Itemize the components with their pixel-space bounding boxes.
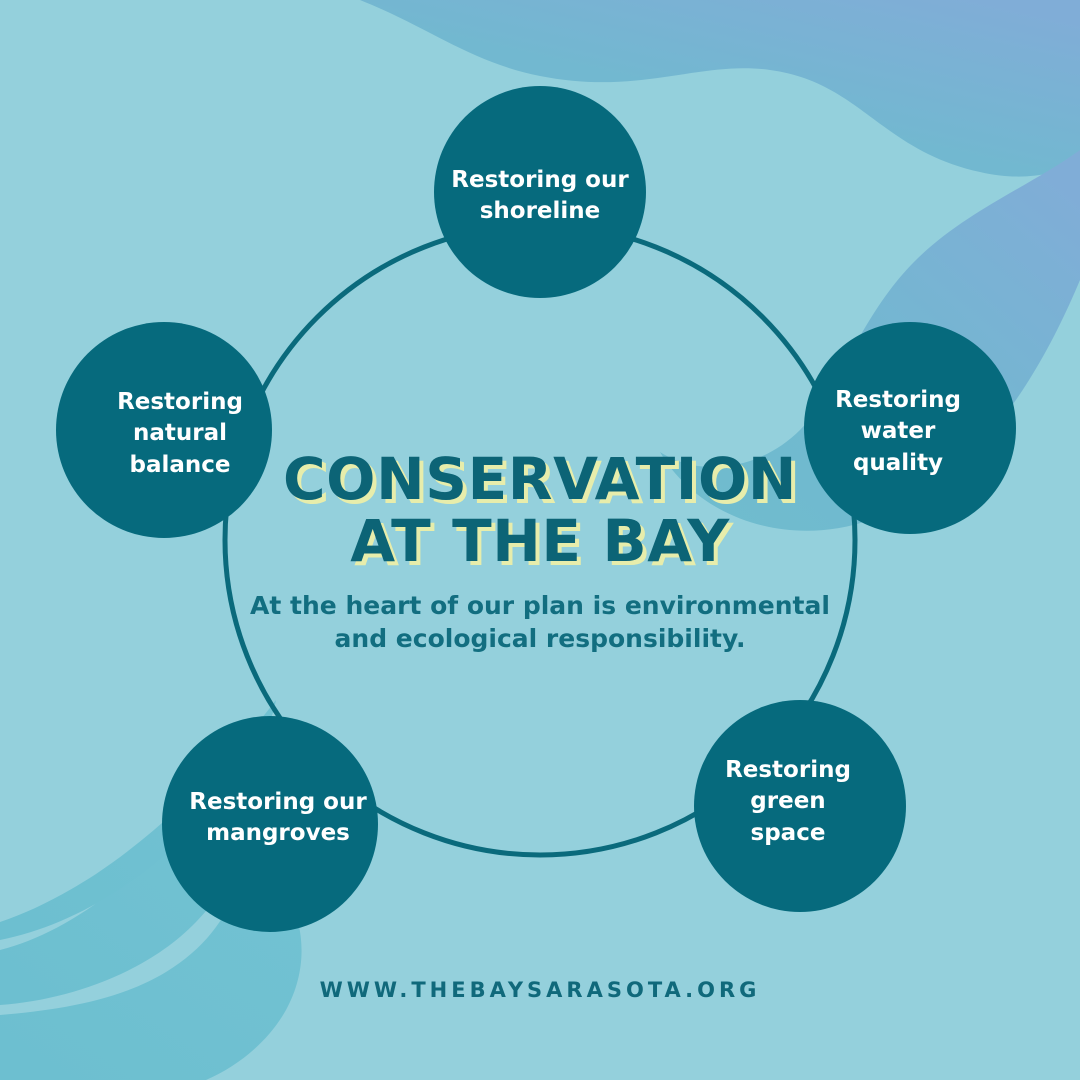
node-restoring-water-quality[interactable]: Restoring water quality (804, 322, 1016, 534)
node-label-mangroves: Restoring our mangroves (183, 787, 372, 849)
node-restoring-shoreline[interactable]: Restoring our shoreline (434, 86, 646, 298)
node-restoring-mangroves[interactable]: Restoring our mangroves (162, 716, 378, 932)
node-label-green-space: Restoring green space (719, 755, 857, 848)
node-label-water-quality: Restoring water quality (829, 385, 967, 478)
infographic-poster: Restoring our shoreline Restoring water … (0, 0, 1080, 1080)
footer-website-url[interactable]: WWW.THEBAYSARASOTA.ORG (0, 978, 1080, 1002)
node-restoring-green-space[interactable]: Restoring green space (694, 700, 906, 912)
node-label-shoreline: Restoring our shoreline (445, 165, 634, 227)
node-label-natural-balance: Restoring natural balance (111, 387, 249, 480)
node-restoring-natural-balance[interactable]: Restoring natural balance (56, 322, 272, 538)
